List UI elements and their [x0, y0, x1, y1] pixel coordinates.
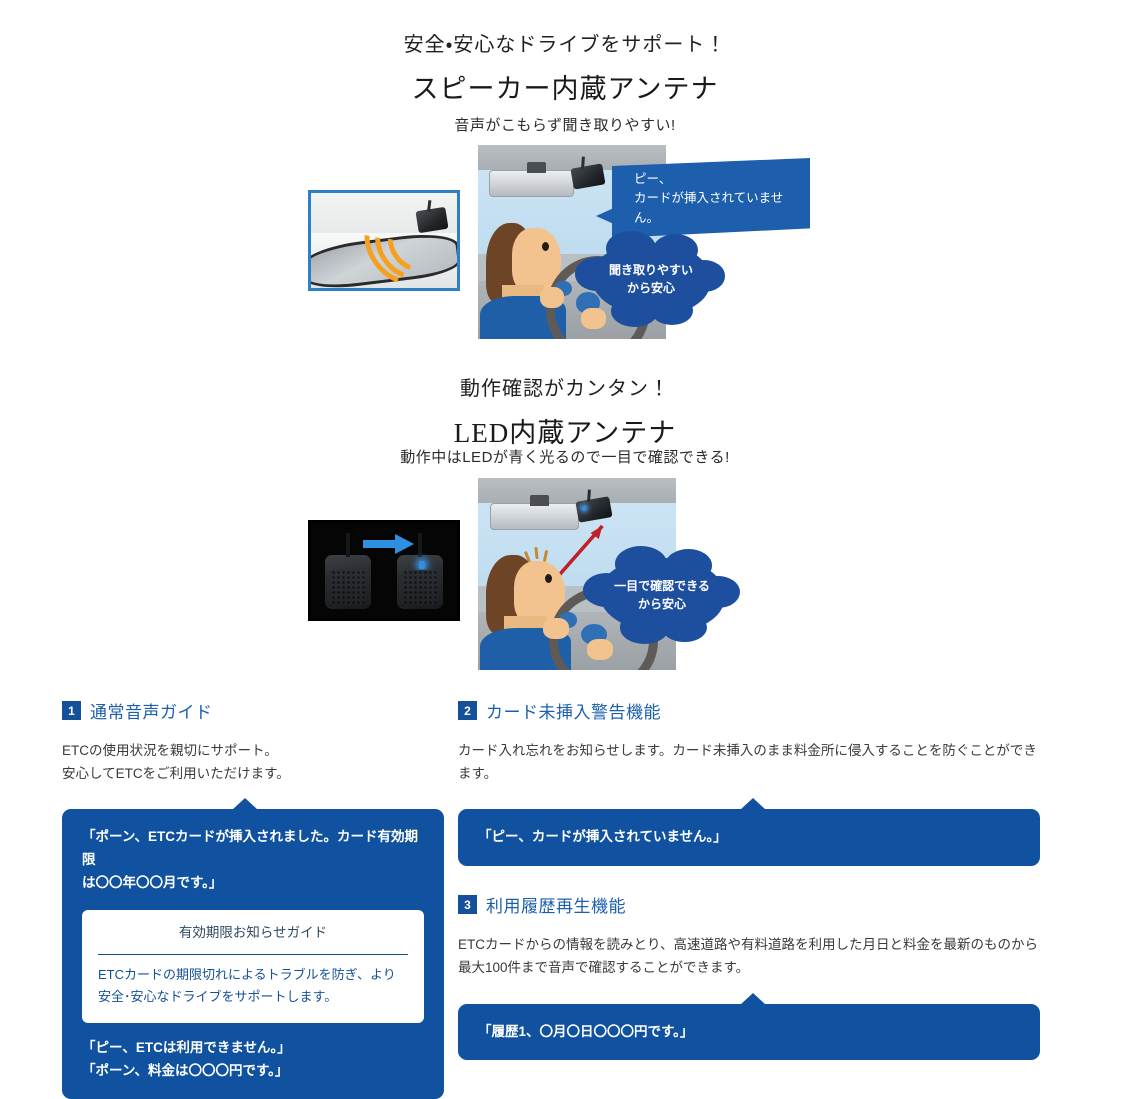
led-antenna-photo [308, 520, 460, 621]
feature-1-title: 通常音声ガイド [90, 698, 213, 723]
section-1-subline-wrap: 音声がこもらず聞き取りやすい! [0, 114, 1130, 135]
expiry-guide-card: 有効期限お知らせガイド ETCカードの期限切れによるトラブルを防ぎ、より安全･安… [82, 910, 424, 1022]
thought-cloud-easy-to-hear: 聞き取りやすい から安心 [592, 243, 710, 315]
section-1-subline: 音声がこもらず聞き取りやすい! [454, 117, 675, 134]
feature-1-description-line-1: ETCの使用状況を親切にサポート。 [62, 739, 444, 762]
callout-notch-icon [740, 993, 766, 1005]
feature-3-callout-text: 「履歴1、〇月〇日〇〇〇円です。」 [478, 1021, 1020, 1044]
feature-1-description: ETCの使用状況を親切にサポート。 安心してETCをご利用いただけます。 [62, 739, 444, 785]
voice-banner-line-1: ピー、 [634, 170, 796, 189]
rearview-mirror [489, 170, 574, 197]
feature-2-number-badge: 2 [458, 701, 477, 720]
feature-2-callout: 「ピー、カードが挿入されていません。」 [458, 809, 1040, 866]
callout-notch-icon [740, 798, 766, 810]
antenna-unit-led-on [397, 555, 443, 609]
voice-banner-no-card: ピー、 カードが挿入されていません。 [612, 158, 810, 238]
speaker-antenna-illustration: ピー、 カードが挿入されていません。 聞き取りやすい から安心 [300, 145, 830, 345]
feature-3-number-badge: 3 [458, 895, 477, 914]
feature-1-callout-line-2: は〇〇年〇〇月です。」 [82, 872, 424, 895]
thought-cloud-easy-to-check: 一目で確認できる から安心 [600, 558, 724, 632]
feature-2-description: カード入れ忘れをお知らせします。カード未挿入のまま料金所に侵入することを防ぐこと… [458, 739, 1040, 785]
cloud-1-line-2: から安心 [609, 279, 693, 297]
mirror-antenna-photo [308, 190, 460, 291]
callout-notch-icon [232, 798, 258, 810]
feature-column-right: 2 カード未挿入警告機能 カード入れ忘れをお知らせします。カード未挿入のまま料金… [458, 698, 1040, 1060]
led-indicator [581, 505, 587, 511]
driver-hand [540, 287, 564, 308]
feature-1-number-badge: 1 [62, 701, 81, 720]
driver-hand [587, 639, 613, 660]
feature-2-header: 2 カード未挿入警告機能 [458, 698, 1040, 723]
blue-arrow-icon [363, 533, 415, 555]
feature-column-left: 1 通常音声ガイド ETCの使用状況を親切にサポート。 安心してETCをご利用い… [62, 698, 444, 1099]
driver-hand [543, 618, 569, 639]
speaker-grille [403, 570, 438, 605]
driver-eye [542, 242, 549, 251]
led-antenna-illustration: 一目で確認できる から安心 [300, 478, 830, 678]
section-2-heading-group: 動作確認がカンタン！ LED内蔵アンテナ [0, 372, 1130, 450]
etc-antenna-unit [415, 207, 448, 233]
expiry-guide-body: ETCカードの期限切れによるトラブルを防ぎ、より安全･安心なドライブをサポートし… [98, 955, 408, 1009]
antenna-unit-led-off [325, 555, 371, 609]
section-2-kicker: 動作確認がカンタン！ [0, 372, 1130, 401]
feature-2-title: カード未挿入警告機能 [486, 698, 661, 723]
driver-hand [581, 308, 605, 329]
feature-1-description-line-2: 安心してETCをご利用いただけます。 [62, 762, 444, 785]
feature-1-header: 1 通常音声ガイド [62, 698, 444, 723]
section-1-headline: スピーカー内蔵アンテナ [0, 67, 1130, 106]
cloud-1-line-1: 聞き取りやすい [609, 261, 693, 279]
antenna-cable [346, 533, 350, 557]
feature-1-callout: 「ポーン、ETCカードが挿入されました。カード有効期限 は〇〇年〇〇月です。」 … [62, 809, 444, 1099]
cloud-2-line-2: から安心 [614, 595, 710, 613]
section-1-heading-group: 安全・安心なドライブをサポート！ スピーカー内蔵アンテナ [0, 28, 1130, 106]
cloud-2-line-1: 一目で確認できる [614, 577, 710, 595]
section-2-subline-wrap: 動作中はLEDが青く光るので一目で確認できる! [0, 446, 1130, 467]
feature-1-callout-line-3: 「ピー、ETCは利用できません。」 [82, 1037, 424, 1060]
feature-1-callout-line-4: 「ポーン、料金は〇〇〇円です。」 [82, 1060, 424, 1083]
feature-2-callout-text: 「ピー、カードが挿入されていません。」 [478, 826, 1020, 849]
voice-banner-line-2: カードが挿入されていません。 [634, 189, 796, 228]
car-headliner [478, 478, 676, 503]
expiry-guide-title: 有効期限お知らせガイド [98, 922, 408, 955]
feature-1-callout-line-1: 「ポーン、ETCカードが挿入されました。カード有効期限 [82, 826, 424, 871]
led-indicator [419, 561, 425, 569]
feature-3-header: 3 利用履歴再生機能 [458, 892, 1040, 917]
section-2-subline: 動作中はLEDが青く光るので一目で確認できる! [400, 449, 730, 466]
feature-3-description: ETCカードからの情報を読みとり、高速道路や有料道路を利用した月日と料金を最新の… [458, 933, 1040, 979]
speaker-grille [331, 570, 366, 605]
antenna-cable [418, 533, 422, 557]
feature-3-callout: 「履歴1、〇月〇日〇〇〇円です。」 [458, 1004, 1040, 1061]
section-2-headline: LED内蔵アンテナ [0, 411, 1130, 450]
section-1-kicker: 安全・安心なドライブをサポート！ [0, 28, 1130, 57]
feature-3-title: 利用履歴再生機能 [486, 892, 626, 917]
